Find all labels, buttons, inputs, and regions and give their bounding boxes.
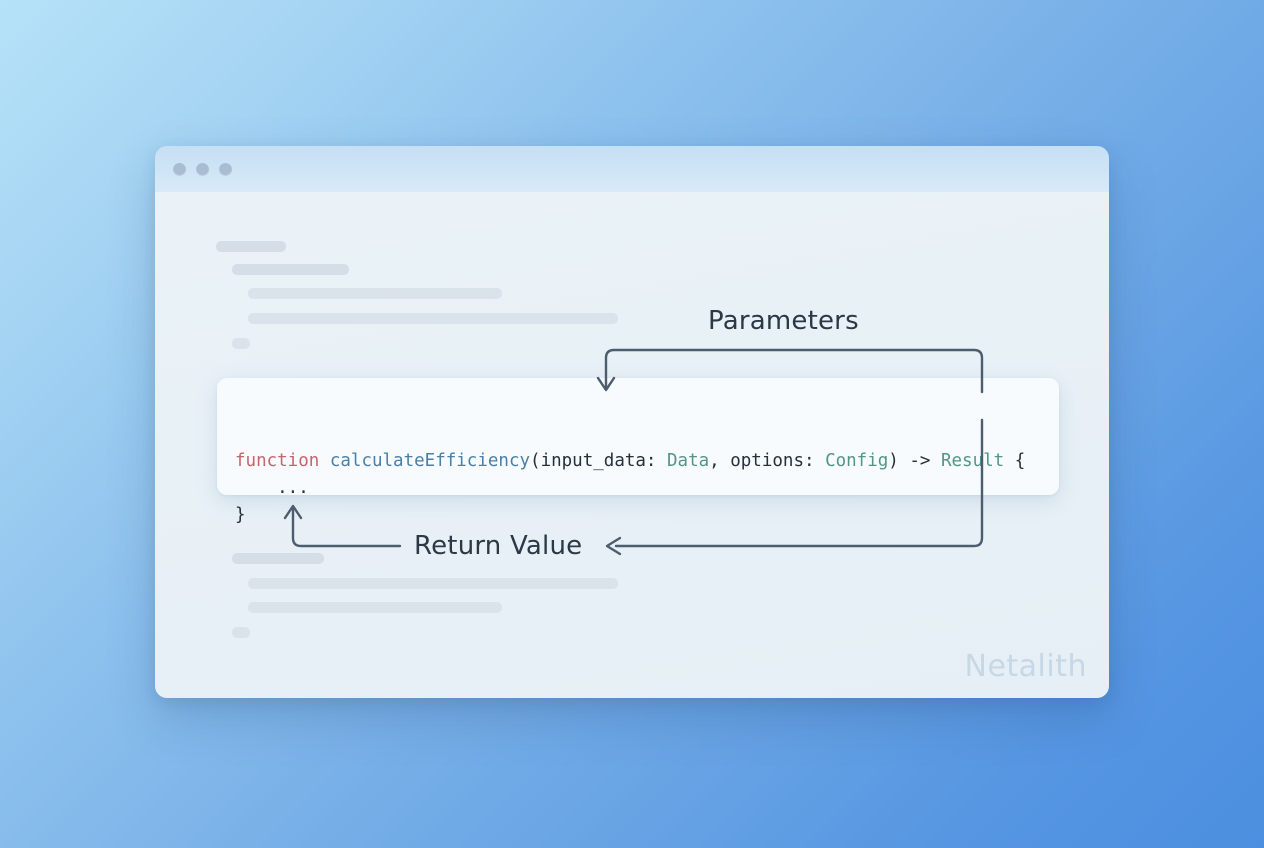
- code-line: ...: [235, 475, 1059, 502]
- window-dot-minimize-icon[interactable]: [196, 163, 209, 176]
- code-token-type: Result: [941, 451, 1004, 471]
- code-line: function calculateEfficiency(input_data:…: [235, 448, 1059, 475]
- placeholder-bar: [248, 602, 502, 613]
- placeholder-bar: [232, 338, 250, 349]
- code-token-plain: (input_data:: [530, 451, 667, 471]
- code-snippet-block[interactable]: function calculateEfficiency(input_data:…: [217, 378, 1059, 495]
- code-token-plain: {: [1004, 451, 1025, 471]
- placeholder-bar: [248, 313, 618, 324]
- placeholder-bar: [248, 578, 618, 589]
- window-titlebar[interactable]: [155, 146, 1109, 192]
- code-token-plain: , options:: [709, 451, 825, 471]
- code-token-function-name: calculateEfficiency: [330, 451, 530, 471]
- watermark-brand: Netalith: [965, 649, 1088, 684]
- code-lines: function calculateEfficiency(input_data:…: [235, 448, 1059, 529]
- annotation-label-parameters: Parameters: [708, 306, 859, 336]
- code-token-plain: }: [235, 505, 246, 525]
- annotation-label-return-value: Return Value: [414, 531, 582, 561]
- code-token-keyword: function: [235, 451, 319, 471]
- code-token-plain: [319, 451, 330, 471]
- window-dot-maximize-icon[interactable]: [219, 163, 232, 176]
- code-token-plain: ) ->: [888, 451, 941, 471]
- window-dot-close-icon[interactable]: [173, 163, 186, 176]
- code-token-plain: ...: [235, 478, 309, 498]
- code-token-type: Config: [825, 451, 888, 471]
- placeholder-bar: [232, 264, 349, 275]
- placeholder-bar: [232, 627, 250, 638]
- placeholder-bar: [248, 288, 502, 299]
- code-line: }: [235, 502, 1059, 529]
- placeholder-bar: [216, 241, 286, 252]
- code-token-type: Data: [667, 451, 709, 471]
